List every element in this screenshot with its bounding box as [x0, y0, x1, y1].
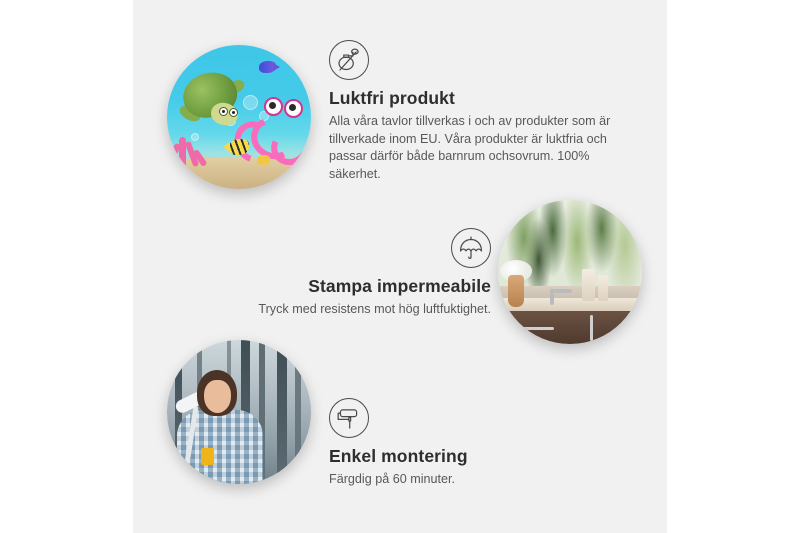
feature-title: Luktfri produkt	[329, 88, 629, 109]
woman-face	[204, 380, 231, 413]
umbrella-water-resistant-icon	[451, 228, 491, 268]
fish-tail	[273, 63, 280, 71]
bubble-icon	[191, 133, 199, 141]
bathroom-tropical-wallpaper-photo	[498, 200, 642, 344]
feature-water-resistant: Stampa impermeabile Tryck med resistens …	[193, 228, 493, 319]
drawer-handle	[520, 327, 554, 330]
feature-body: Alla våra tavlor tillverkas i och av pro…	[329, 113, 619, 183]
painter-woman-forest-mural-photo	[167, 340, 311, 484]
fish-small-yellow	[257, 155, 270, 165]
painter-scene-artwork	[167, 340, 311, 484]
turtle-eye	[219, 107, 228, 116]
product-features-panel: Luktfri produkt Alla våra tavlor tillver…	[133, 0, 667, 533]
octopus-eye	[284, 99, 303, 118]
feature-easy-assembly: Enkel montering Färgdig på 60 minuter.	[329, 398, 629, 489]
vanity-cabinet	[498, 311, 642, 344]
underwater-kids-mural-photo	[167, 45, 311, 189]
fish-tail	[223, 142, 230, 152]
underwater-scene-artwork	[167, 45, 311, 189]
bathroom-scene-artwork	[498, 200, 642, 344]
tree-trunk	[277, 340, 287, 484]
vase	[508, 275, 524, 307]
fish-yellow	[229, 139, 249, 155]
paint-can	[201, 448, 214, 465]
feature-title: Enkel montering	[329, 446, 629, 467]
turtle-eye	[229, 108, 238, 117]
feature-title: Stampa impermeabile	[193, 276, 491, 297]
faucet-spout	[550, 289, 572, 293]
paint-roller-icon	[329, 398, 369, 438]
towel-roll	[598, 275, 608, 301]
soap-bottle	[582, 269, 595, 301]
feature-body: Färgdig på 60 minuter.	[329, 471, 619, 489]
screenshot-root: Luktfri produkt Alla våra tavlor tillver…	[0, 0, 800, 533]
tree-trunk	[295, 340, 301, 484]
feature-body: Tryck med resistens mot hög luftfuktighe…	[193, 301, 491, 319]
feature-odourless: Luktfri produkt Alla våra tavlor tillver…	[329, 40, 629, 183]
octopus-eye	[264, 97, 283, 116]
coral-branch	[179, 137, 186, 167]
no-odour-spray-bottle-icon	[329, 40, 369, 80]
cabinet-handle	[590, 315, 593, 341]
